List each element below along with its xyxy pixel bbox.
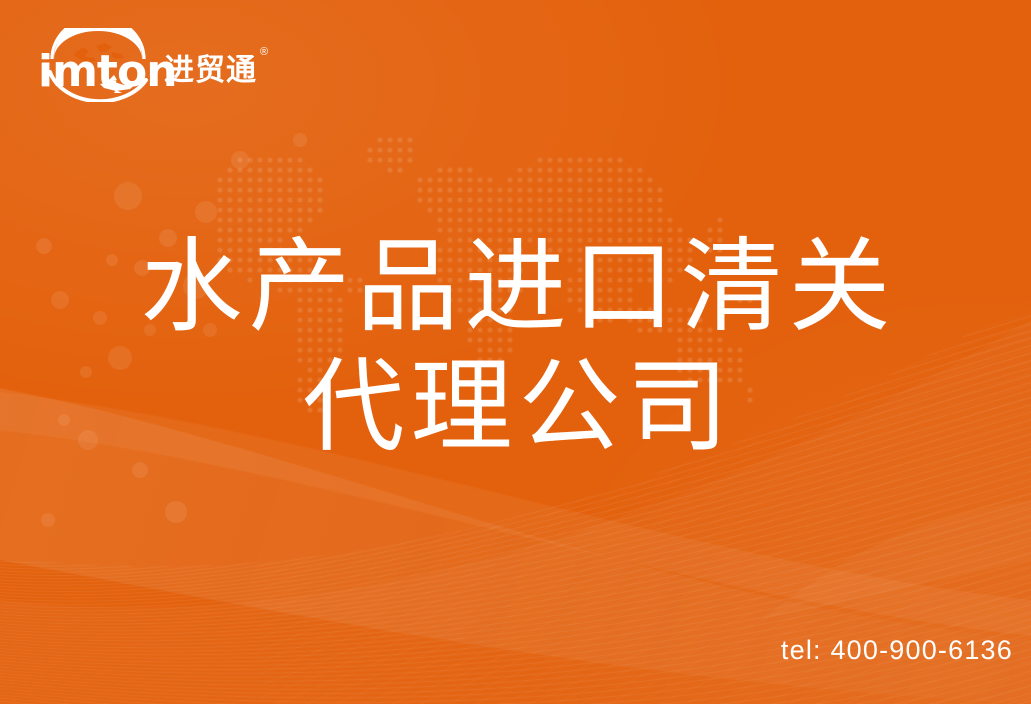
brand-logo[interactable]: imton 进贸通 ® xyxy=(36,28,214,102)
headline-line-1: 水产品进口清关 xyxy=(0,228,1031,348)
contact-phone[interactable]: tel: 400-900-6136 xyxy=(781,635,1013,666)
logo-chinese-text: 进贸通 xyxy=(164,56,257,86)
headline-line-2: 代理公司 xyxy=(0,348,1031,468)
trademark-symbol: ® xyxy=(260,47,268,58)
svg-text:imton: imton xyxy=(38,46,177,97)
headline: 水产品进口清关 代理公司 xyxy=(0,228,1031,469)
promo-banner: imton 进贸通 ® 水产品进口清关 代理公司 tel: 400-900-61… xyxy=(0,0,1031,704)
